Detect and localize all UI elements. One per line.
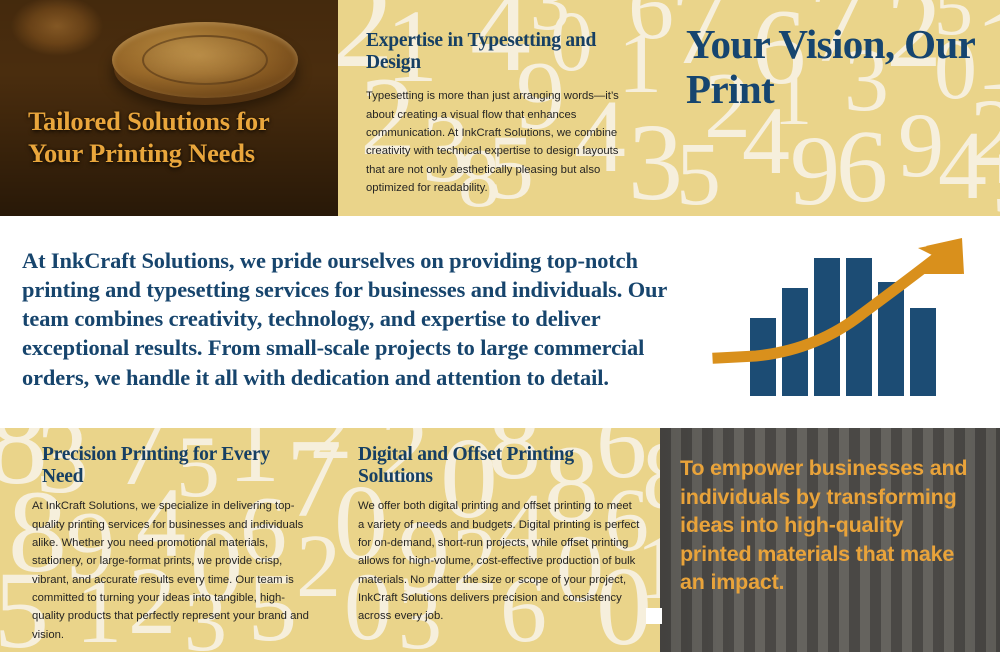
- growth-bar-chart-with-rising-arrow: [712, 230, 980, 416]
- middle-band: At InkCraft Solutions, we pride ourselve…: [0, 216, 1000, 428]
- expertise-card-title: Expertise in Typesetting and Design: [366, 30, 640, 74]
- precision-card-title: Precision Printing for Every Need: [32, 444, 312, 488]
- intro-paragraph: At InkCraft Solutions, we pride ourselve…: [22, 246, 682, 392]
- brochure-page: Tailored Solutions for Your Printing Nee…: [0, 0, 1000, 652]
- mission-statement-text: To empower businesses and individuals by…: [680, 454, 972, 597]
- panel-notch-spacer: [646, 608, 662, 624]
- top-band: Tailored Solutions for Your Printing Nee…: [0, 0, 1000, 216]
- hero-claim-heading: Your Vision, Our Print: [686, 22, 986, 112]
- digital-card-body: We offer both digital printing and offse…: [358, 497, 640, 625]
- mission-statement-panel: To empower businesses and individuals by…: [660, 428, 1000, 652]
- coin-photo-panel: Tailored Solutions for Your Printing Nee…: [0, 0, 338, 216]
- precision-printing-card: Precision Printing for Every Need At Ink…: [14, 428, 334, 652]
- tailored-solutions-heading: Tailored Solutions for Your Printing Nee…: [28, 106, 328, 170]
- expertise-card-body: Typesetting is more than just arranging …: [366, 87, 640, 197]
- bottom-yellow-panel: 8 3 8 9 5 1 7 4 2 5 0 3 1 6 5 7 2 2 0 0: [0, 428, 660, 652]
- expertise-card: Expertise in Typesetting and Design Type…: [352, 0, 658, 216]
- digital-offset-card: Digital and Offset Printing Solutions We…: [348, 428, 660, 652]
- digital-card-title: Digital and Offset Printing Solutions: [358, 444, 640, 488]
- precision-card-body: At InkCraft Solutions, we specialize in …: [32, 497, 312, 643]
- top-yellow-panel: 2 1 2 3 4 9 5 0 4 1 3 7 2 5 6 6 4 9 7 3: [338, 0, 1000, 216]
- chart-bar-6: [910, 308, 936, 396]
- bottom-band: 8 3 8 9 5 1 7 4 2 5 0 3 1 6 5 7 2 2 0 0: [0, 428, 1000, 652]
